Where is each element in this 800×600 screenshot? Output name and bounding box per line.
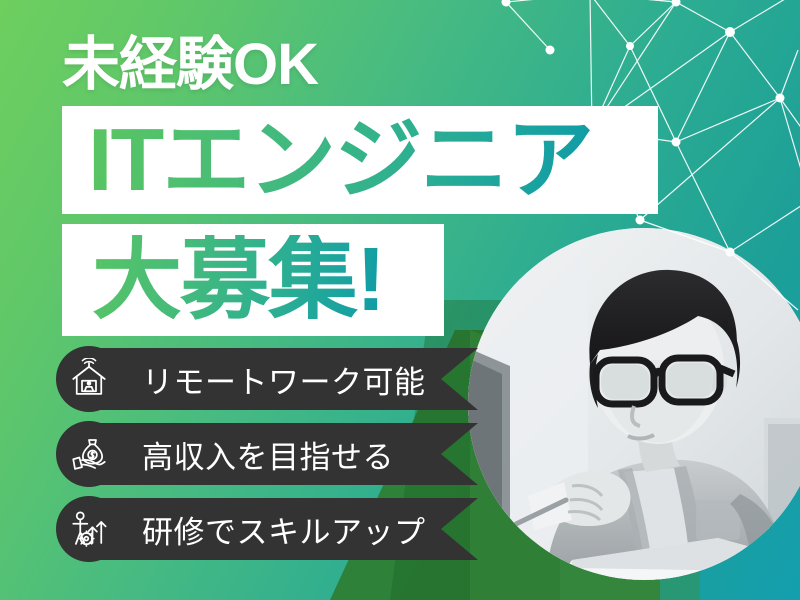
feature-label-skill-up: 研修でスキルアップ bbox=[142, 498, 426, 560]
kicker-text: 未経験OK bbox=[62, 36, 318, 94]
feature-label-high-income: 高収入を目指せる bbox=[142, 423, 394, 485]
feature-item-remote-work: リモートワーク可能 bbox=[56, 348, 486, 410]
headline-box-secondary: 大募集! bbox=[62, 224, 444, 336]
headline-line-1: ITエンジニア bbox=[62, 116, 592, 204]
feature-list: リモートワーク可能 高収入を目指せる bbox=[56, 348, 486, 573]
remote-work-house-icon bbox=[56, 346, 122, 412]
skill-growth-gear-icon bbox=[56, 496, 122, 562]
headline-box-primary: ITエンジニア bbox=[62, 106, 658, 214]
feature-item-high-income: 高収入を目指せる bbox=[56, 423, 486, 485]
recruitment-banner: 未経験OK ITエンジニア 大募集! bbox=[0, 0, 800, 600]
feature-label-remote-work: リモートワーク可能 bbox=[142, 348, 426, 410]
feature-item-skill-up: 研修でスキルアップ bbox=[56, 498, 486, 560]
headline-line-2: 大募集! bbox=[62, 235, 384, 325]
money-bag-hand-icon bbox=[56, 421, 122, 487]
engineer-photo bbox=[468, 228, 800, 580]
